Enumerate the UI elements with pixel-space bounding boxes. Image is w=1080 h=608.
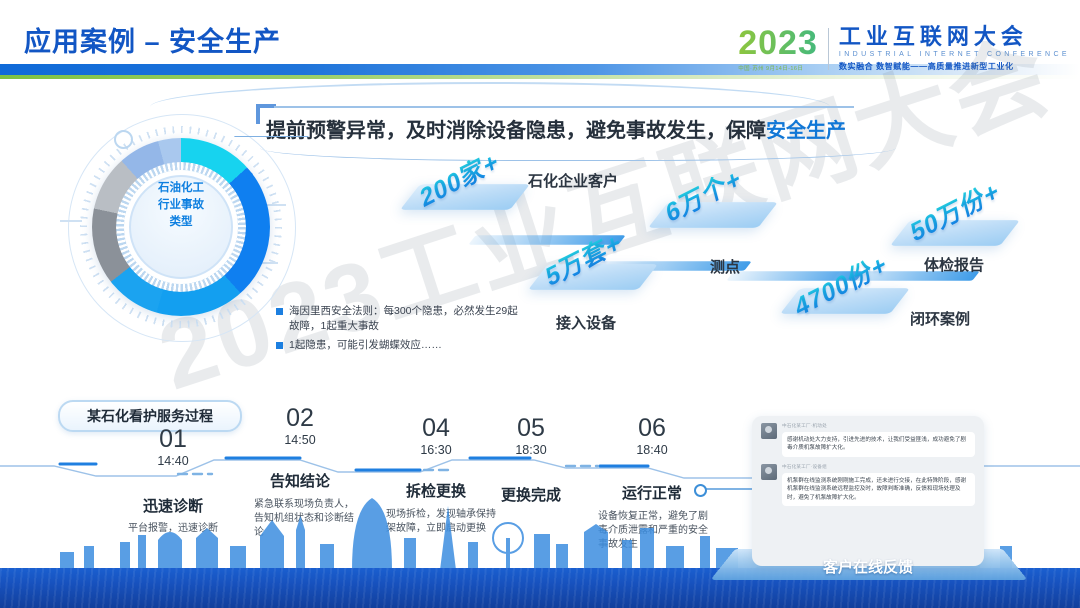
slide-root: 应用案例 – 安全生产 2023 中国·苏州 9月14日-16日 工业互联网大会… [0, 0, 1080, 608]
step-number: 01 [108, 426, 238, 453]
statistics-flow: 200家+ 石化企业客户 5万套+ 接入设备 6万个+ 测点 4700份+ 闭环… [400, 150, 1080, 360]
conference-logo: 2023 中国·苏州 9月14日-16日 工业互联网大会 INDUSTRIAL … [738, 26, 1070, 72]
step-number: 06 [592, 415, 712, 442]
avatar [761, 464, 777, 480]
feedback-connector-dot [694, 484, 707, 497]
step-number: 02 [240, 405, 360, 432]
donut-callout-dot [246, 172, 253, 179]
donut-center-line-1: 石油化工 [124, 180, 238, 197]
legend-square-icon [276, 308, 283, 315]
headline-accent: 安全生产 [766, 120, 846, 142]
headline-top-rule [274, 106, 854, 108]
avatar [761, 423, 777, 439]
logo-name-en: INDUSTRIAL INTERNET CONFERENCE [839, 51, 1070, 58]
logo-year: 2023 [738, 26, 818, 60]
donut-center-label: 石油化工 行业事故 类型 [124, 180, 238, 231]
donut-center-line-3: 类型 [124, 214, 238, 231]
stat-label-5: 体检报告 [924, 254, 984, 275]
logo-divider [828, 28, 829, 70]
chat-message-body: 中石化某工厂·机动处 感谢机动处大力支持，引进先进的技术，让我们受益匪浅，成功避… [782, 423, 975, 457]
step-time: 18:30 [476, 442, 586, 458]
feedback-connector-line [700, 488, 756, 490]
chat-bubble-text: 机泵群在线监测系统刚刚施工完成，还未进行交接，在此特殊阶段，感谢机泵群在线监测系… [782, 473, 975, 506]
donut-center-line-2: 行业事故 [124, 197, 238, 214]
stat-label-3: 测点 [710, 256, 740, 277]
step-time: 14:40 [108, 453, 238, 469]
chat-message: 中石化某工厂·机动处 感谢机动处大力支持，引进先进的技术，让我们受益匪浅，成功避… [752, 416, 984, 457]
logo-tagline: 数实融合 数智赋能——高质量推进新型工业化 [839, 61, 1070, 72]
customer-feedback-panel[interactable]: 中石化某工厂·机动处 感谢机动处大力支持，引进先进的技术，让我们受益匪浅，成功避… [752, 416, 984, 566]
step-number: 05 [476, 415, 586, 442]
stat-label-2: 接入设备 [556, 312, 616, 333]
chat-sender-name: 中石化某工厂·机动处 [782, 423, 975, 429]
accident-type-donut-chart: 石油化工 行业事故 类型 [62, 112, 302, 348]
chat-sender-name: 中石化某工厂·设备组 [782, 464, 975, 470]
donut-mark-left [60, 220, 82, 222]
chat-bubble-text: 感谢机动处大力支持，引进先进的技术，让我们受益匪浅，成功避免了剧毒介质机泵故障扩… [782, 432, 975, 457]
donut-badge-circle [114, 130, 133, 149]
step-time: 18:40 [592, 442, 712, 458]
headline-main: 提前预警异常，及时消除设备隐患，避免事故发生，保障 [266, 120, 766, 142]
feedback-panel-label: 客户在线反馈 [752, 556, 984, 577]
legend-square-icon [276, 342, 283, 349]
chat-message-body: 中石化某工厂·设备组 机泵群在线监测系统刚刚施工完成，还未进行交接，在此特殊阶段… [782, 464, 975, 506]
logo-year-block: 2023 中国·苏州 9月14日-16日 [738, 26, 818, 72]
chat-message: 中石化某工厂·设备组 机泵群在线监测系统刚刚施工完成，还未进行交接，在此特殊阶段… [752, 457, 984, 506]
headline-block: 提前预警异常，及时消除设备隐患，避免事故发生，保障安全生产 [256, 104, 896, 152]
step-time: 14:50 [240, 432, 360, 448]
logo-name-block: 工业互联网大会 INDUSTRIAL INTERNET CONFERENCE 数… [839, 26, 1070, 72]
stat-label-1: 石化企业客户 [528, 170, 618, 191]
headline-text: 提前预警异常，及时消除设备隐患，避免事故发生，保障安全生产 [266, 114, 846, 143]
header-accent-bar-green [0, 75, 1080, 79]
page-title: 应用案例 – 安全生产 [24, 20, 281, 59]
logo-year-subtitle: 中国·苏州 9月14日-16日 [738, 64, 818, 72]
stat-label-4: 闭环案例 [910, 308, 970, 329]
logo-name-cn: 工业互联网大会 [839, 26, 1070, 48]
